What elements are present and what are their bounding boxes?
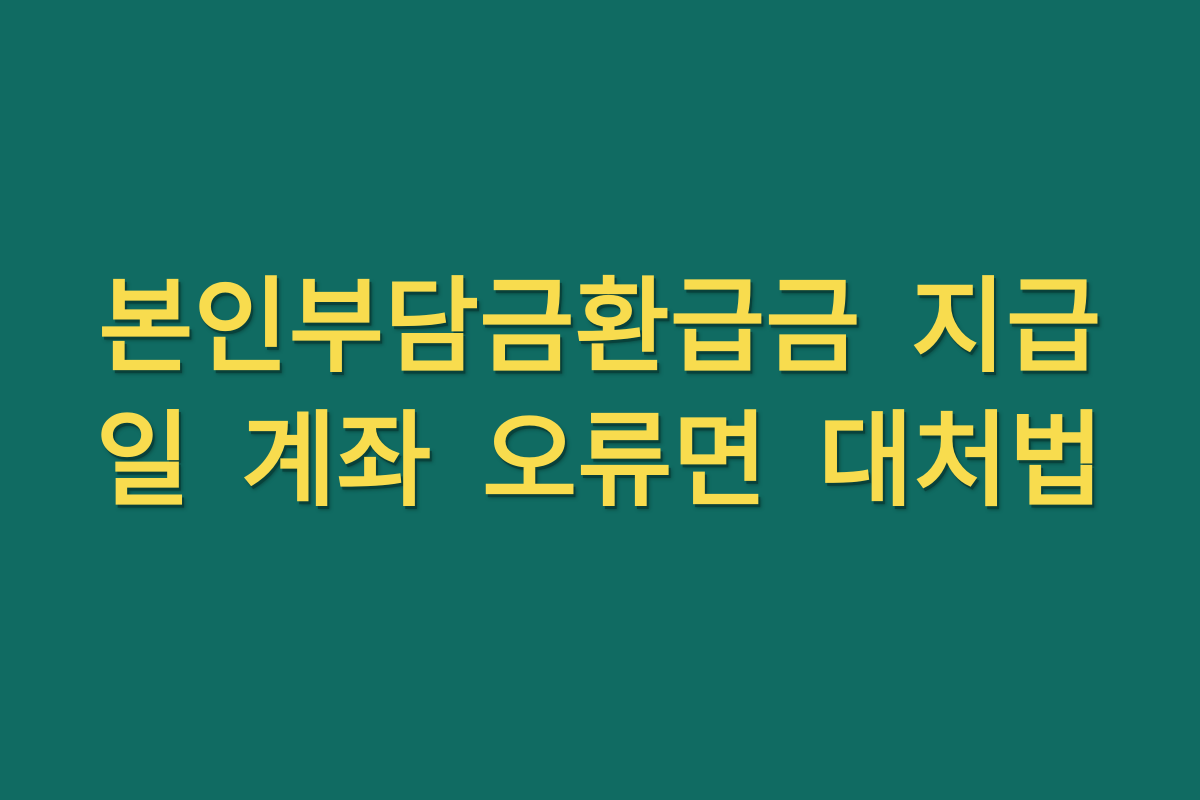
headline-line-1: 본인부담금환급금 지급 — [65, 260, 1135, 394]
headline-block: 본인부담금환급금 지급 일 계좌 오류면 대처법 — [65, 260, 1135, 528]
headline-line-2: 일 계좌 오류면 대처법 — [65, 394, 1135, 528]
banner-canvas: 본인부담금환급금 지급 일 계좌 오류면 대처법 — [0, 0, 1200, 800]
